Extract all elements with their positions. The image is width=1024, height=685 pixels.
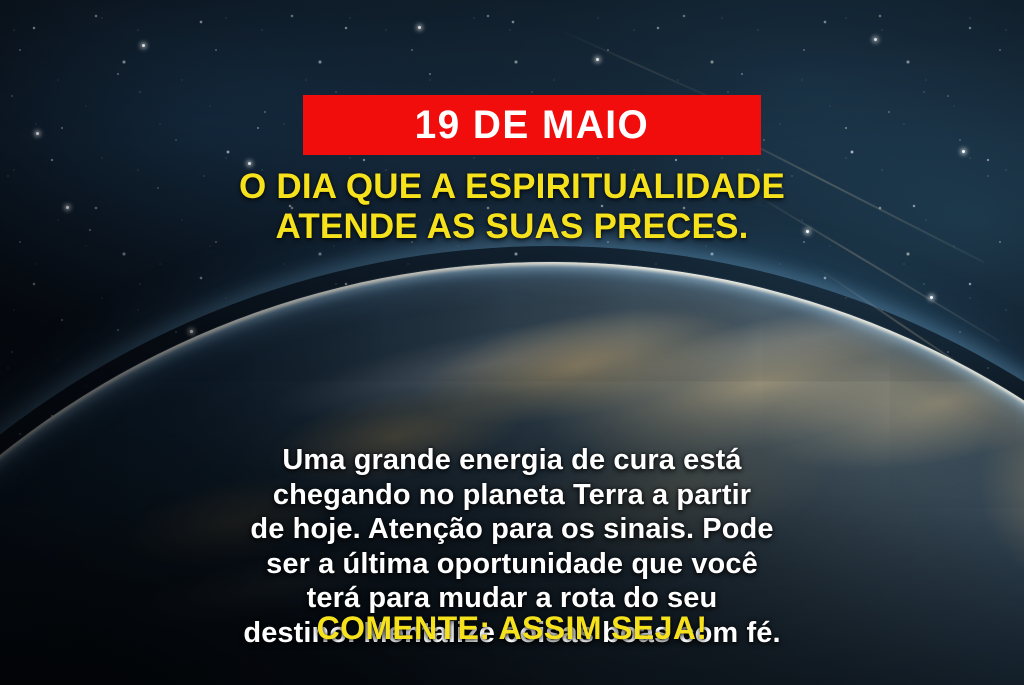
date-banner: 19 DE MAIO [303, 95, 761, 155]
call-to-action-text: COMENTE: ASSIM SEJA! [0, 612, 1024, 644]
poster-canvas: 19 DE MAIO O DIA QUE A ESPIRITUALIDADE A… [0, 0, 1024, 685]
date-banner-label: 19 DE MAIO [415, 105, 649, 145]
headline-text: O DIA QUE A ESPIRITUALIDADE ATENDE AS SU… [0, 167, 1024, 247]
poster-content: 19 DE MAIO O DIA QUE A ESPIRITUALIDADE A… [0, 0, 1024, 685]
